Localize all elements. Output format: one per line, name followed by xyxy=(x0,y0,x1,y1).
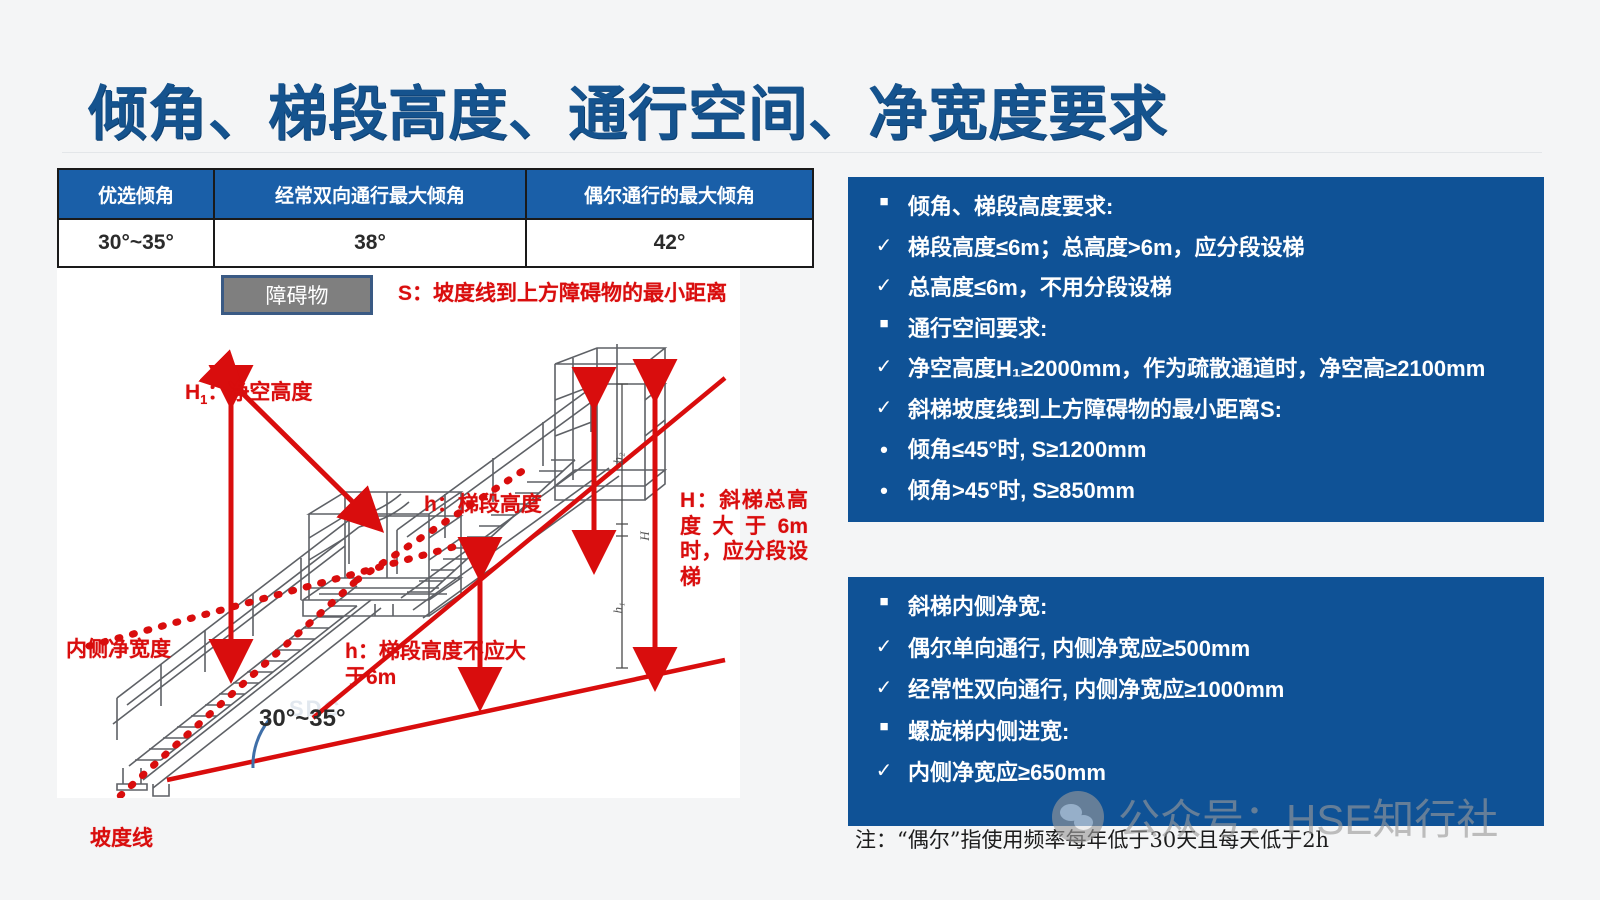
annotation-h-max-6m: h：梯段高度不应大于6m xyxy=(345,639,527,690)
stair-diagram-panel: SDC xyxy=(57,268,740,798)
footnote: 注：“偶尔”指使用频率每年低于30天且每天低于2h xyxy=(855,824,1329,854)
slope-line-lower-dotted xyxy=(89,546,457,646)
list-item: ■ 通行空间要求: xyxy=(874,315,1524,343)
list-item: ✓ 经常性双向通行, 内侧净宽应≥1000mm xyxy=(874,676,1524,704)
list-item: ✓ 总高度≤6m，不用分段设梯 xyxy=(874,274,1524,302)
list-item-label: 内侧净宽应≥650mm xyxy=(908,759,1524,787)
check-bullet-icon: ✓ xyxy=(874,396,894,421)
incline-spec-table: 优选倾角 经常双向通行最大倾角 偶尔通行的最大倾角 30°~35° 38° 42… xyxy=(57,168,814,268)
dot-bullet-icon: • xyxy=(874,477,894,505)
list-item-label: 倾角>45°时, S≥850mm xyxy=(908,477,1524,505)
list-item: ✓ 净空高度H₁≥2000mm，作为疏散通道时，净空高≥2100mm xyxy=(874,355,1524,383)
obstacle-label-text: 障碍物 xyxy=(266,280,329,310)
check-bullet-icon: ✓ xyxy=(874,759,894,784)
check-bullet-icon: ✓ xyxy=(874,676,894,701)
square-bullet-icon: ■ xyxy=(874,718,894,737)
square-bullet-icon: ■ xyxy=(874,593,894,612)
annotation-inner-clear-width: 内侧净宽度 xyxy=(66,637,171,663)
list-item-label: 经常性双向通行, 内侧净宽应≥1000mm xyxy=(908,676,1524,704)
list-item-label: 偶尔单向通行, 内侧净宽应≥500mm xyxy=(908,635,1524,663)
list-item: ✓ 斜梯坡度线到上方障碍物的最小距离S: xyxy=(874,396,1524,424)
requirements-card: ■ 倾角、梯段高度要求: ✓ 梯段高度≤6m；总高度>6m，应分段设梯 ✓ 总高… xyxy=(848,177,1544,522)
list-item: • 倾角>45°时, S≥850mm xyxy=(874,477,1524,505)
title-divider xyxy=(62,152,1542,153)
list-item: ✓ 偶尔单向通行, 内侧净宽应≥500mm xyxy=(874,635,1524,663)
square-bullet-icon: ■ xyxy=(874,193,894,212)
table-header-cell: 经常双向通行最大倾角 xyxy=(214,169,526,219)
list-item-label: 净空高度H₁≥2000mm，作为疏散通道时，净空高≥2100mm xyxy=(908,355,1524,383)
dot-bullet-icon: • xyxy=(874,436,894,464)
list-item: ■ 倾角、梯段高度要求: xyxy=(874,193,1524,221)
annotation-h1-clear-height: H1：净空高度 xyxy=(185,380,312,408)
table-cell: 42° xyxy=(526,219,813,267)
obstacle-label-box: 障碍物 xyxy=(221,275,373,315)
list-item-label: 倾角、梯段高度要求: xyxy=(908,193,1524,221)
dimension-label-h2: h₂ xyxy=(610,452,625,464)
square-bullet-icon: ■ xyxy=(874,315,894,334)
list-item-label: 斜梯坡度线到上方障碍物的最小距离S: xyxy=(908,396,1524,424)
list-item-label: 斜梯内侧净宽: xyxy=(908,593,1524,621)
list-item-label: 倾角≤45°时, S≥1200mm xyxy=(908,436,1524,464)
check-bullet-icon: ✓ xyxy=(874,355,894,380)
page-title: 倾角、梯段高度、通行空间、净宽度要求 xyxy=(88,66,1168,151)
table-row: 30°~35° 38° 42° xyxy=(58,219,813,267)
list-item: ✓ 梯段高度≤6m；总高度>6m，应分段设梯 xyxy=(874,234,1524,262)
dimension-label-H: H xyxy=(637,531,652,542)
annotation-h1-suffix: ：净空高度 xyxy=(207,381,312,404)
table-header-cell: 优选倾角 xyxy=(58,169,214,219)
table-cell: 30°~35° xyxy=(58,219,214,267)
annotation-slope-line: 坡度线 xyxy=(90,826,153,852)
stair-technical-drawing: SDC xyxy=(57,268,740,798)
list-item: ■ 螺旋梯内侧进宽: xyxy=(874,718,1524,746)
list-item-label: 螺旋梯内侧进宽: xyxy=(908,718,1524,746)
annotation-H-total-height: H：斜梯总高度大于6m时，应分段设梯 xyxy=(680,488,808,590)
stair-structure xyxy=(113,344,665,796)
annotation-s-min-distance: S：坡度线到上方障碍物的最小距离 xyxy=(398,281,727,307)
width-card: ■ 斜梯内侧净宽: ✓ 偶尔单向通行, 内侧净宽应≥500mm ✓ 经常性双向通… xyxy=(848,577,1544,826)
list-item: ■ 斜梯内侧净宽: xyxy=(874,593,1524,621)
check-bullet-icon: ✓ xyxy=(874,234,894,259)
list-item: ✓ 内侧净宽应≥650mm xyxy=(874,759,1524,787)
check-bullet-icon: ✓ xyxy=(874,635,894,660)
list-item-label: 梯段高度≤6m；总高度>6m，应分段设梯 xyxy=(908,234,1524,262)
dimension-label-h1: h₁ xyxy=(610,602,625,613)
annotation-h-flight-height: h：梯段高度 xyxy=(424,492,542,518)
check-bullet-icon: ✓ xyxy=(874,274,894,299)
slide-root: 倾角、梯段高度、通行空间、净宽度要求 优选倾角 经常双向通行最大倾角 偶尔通行的… xyxy=(0,0,1600,900)
annotation-angle-range: 30°~35° xyxy=(259,705,346,733)
list-item-label: 通行空间要求: xyxy=(908,315,1524,343)
table-header-row: 优选倾角 经常双向通行最大倾角 偶尔通行的最大倾角 xyxy=(58,169,813,219)
table-cell: 38° xyxy=(214,219,526,267)
table-header-cell: 偶尔通行的最大倾角 xyxy=(526,169,813,219)
list-item-label: 总高度≤6m，不用分段设梯 xyxy=(908,274,1524,302)
list-item: • 倾角≤45°时, S≥1200mm xyxy=(874,436,1524,464)
annotation-h1-prefix: H xyxy=(185,381,200,404)
